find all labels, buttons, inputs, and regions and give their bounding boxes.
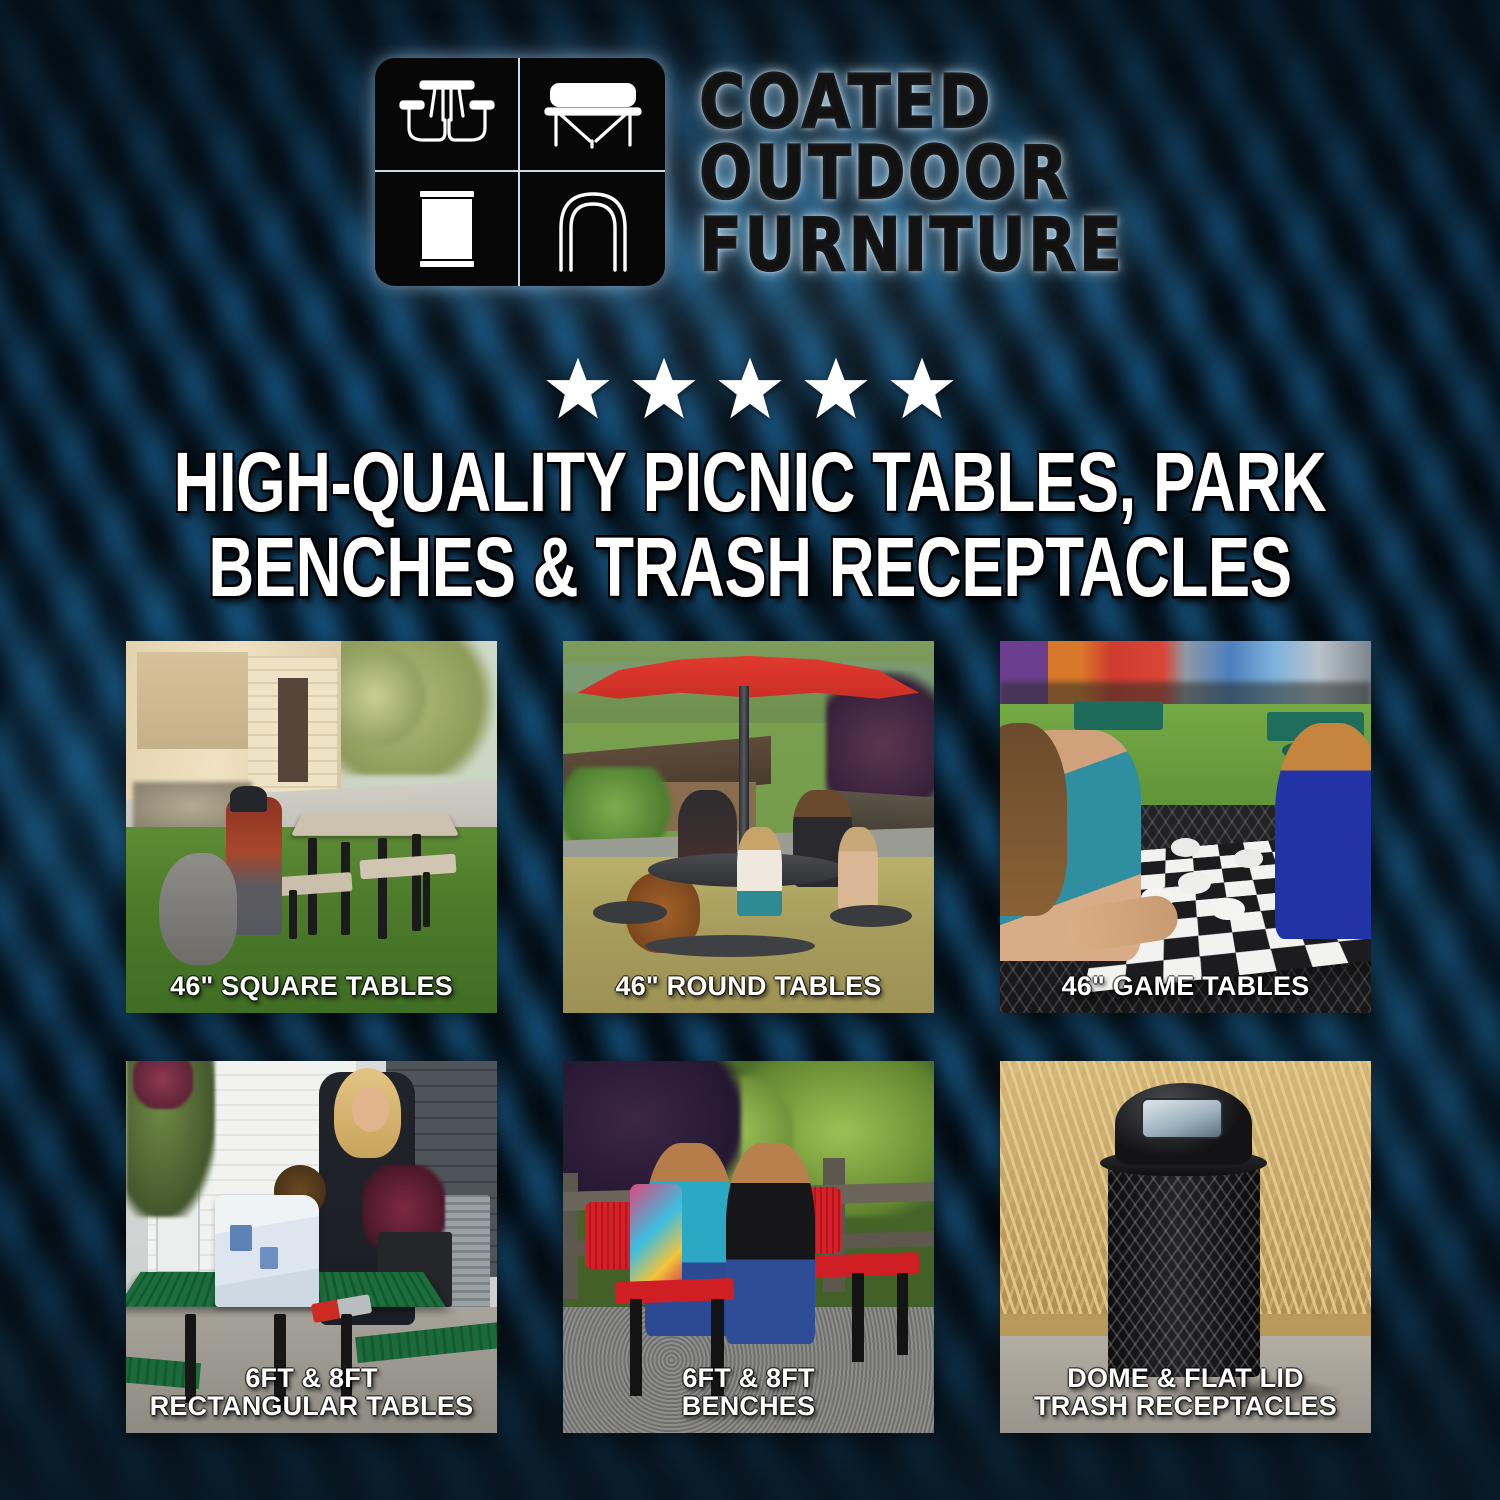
label-line-2: BENCHES [571, 1392, 926, 1421]
label-line-1: DOME & FLAT LID [1067, 1363, 1303, 1393]
brand-header: COATED OUTDOOR FURNITURE [0, 58, 1500, 286]
product-photo-game-tables [1000, 641, 1371, 1013]
star-icon [631, 356, 697, 420]
product-photo-square-tables [126, 641, 497, 1013]
product-tile-game-tables[interactable]: 46" GAME TABLES [1000, 641, 1371, 1013]
label-line-1: 46" SQUARE TABLES [170, 971, 453, 1001]
label-line-2: RECTANGULAR TABLES [134, 1392, 489, 1421]
bench-icon [520, 58, 665, 172]
headline-line-1: HIGH-QUALITY PICNIC TABLES, PARK [174, 435, 1327, 529]
product-label-trash-receptacles: DOME & FLAT LID TRASH RECEPTACLES [1008, 1364, 1363, 1421]
brand-logo-mark [375, 58, 665, 286]
product-label-game-tables: 46" GAME TABLES [1008, 972, 1363, 1001]
star-rating [0, 356, 1500, 420]
product-tile-rectangular-tables[interactable]: 6FT & 8FT RECTANGULAR TABLES [126, 1061, 497, 1433]
arch-lid-icon [520, 172, 665, 286]
page-title: HIGH-QUALITY PICNIC TABLES, PARK BENCHES… [115, 440, 1385, 612]
product-label-square-tables: 46" SQUARE TABLES [134, 972, 489, 1001]
label-line-2: TRASH RECEPTACLES [1008, 1392, 1363, 1421]
label-line-1: 6FT & 8FT [682, 1363, 814, 1393]
label-line-1: 46" ROUND TABLES [615, 971, 881, 1001]
product-tile-benches[interactable]: 6FT & 8FT BENCHES [563, 1061, 934, 1433]
brand-word-1: COATED [699, 66, 1124, 136]
star-icon [803, 356, 869, 420]
product-label-benches: 6FT & 8FT BENCHES [571, 1364, 926, 1421]
trash-receptacle-icon [375, 172, 520, 286]
product-tile-trash-receptacles[interactable]: DOME & FLAT LID TRASH RECEPTACLES [1000, 1061, 1371, 1433]
product-tile-square-tables[interactable]: 46" SQUARE TABLES [126, 641, 497, 1013]
product-tile-round-tables[interactable]: 46" ROUND TABLES [563, 641, 934, 1013]
product-label-round-tables: 46" ROUND TABLES [571, 972, 926, 1001]
brand-word-2: OUTDOOR [699, 138, 1124, 208]
promo-banner: COATED OUTDOOR FURNITURE HIGH-QUALITY PI… [0, 0, 1500, 1500]
product-grid: 46" SQUARE TABLES 46" ROUND TABLES [126, 641, 1372, 1433]
brand-word-3: FURNITURE [699, 209, 1124, 279]
star-icon [717, 356, 783, 420]
label-line-1: 46" GAME TABLES [1062, 971, 1310, 1001]
product-label-rectangular-tables: 6FT & 8FT RECTANGULAR TABLES [134, 1364, 489, 1421]
label-line-1: 6FT & 8FT [245, 1363, 377, 1393]
star-icon [889, 356, 955, 420]
star-icon [545, 356, 611, 420]
product-photo-round-tables [563, 641, 934, 1013]
picnic-table-icon [375, 58, 520, 172]
headline-line-2: BENCHES & TRASH RECEPTACLES [115, 526, 1385, 612]
brand-wordmark: COATED OUTDOOR FURNITURE [699, 70, 1124, 275]
